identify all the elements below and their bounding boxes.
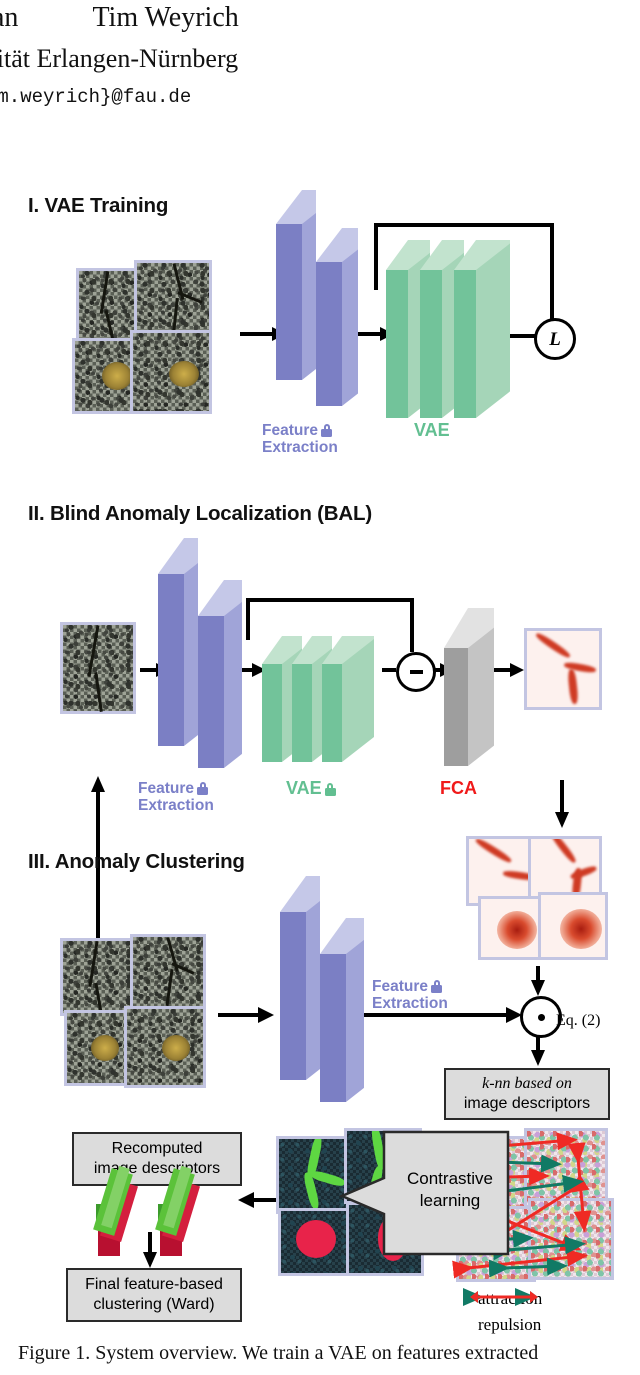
descriptor-bars — [92, 1178, 232, 1268]
clustering-feature-extraction-block — [276, 876, 370, 1102]
clustering-feature-label-line1: Feature — [372, 978, 428, 995]
final-box-line1: Final feature-based — [85, 1276, 223, 1293]
recomputed-box-line1: Recomputed — [112, 1140, 203, 1157]
contrastive-learning-arrow: Contrastive learning — [338, 1126, 508, 1276]
knn-box: k-nn based on image descriptors — [444, 1068, 610, 1120]
contrastive-arrow-line1: Contrastive — [407, 1169, 493, 1188]
knn-box-line2: image descriptors — [464, 1095, 590, 1112]
lock-icon — [431, 980, 442, 993]
final-box-line2: clustering (Ward) — [93, 1296, 214, 1313]
legend: attraction repulsion — [470, 1288, 640, 1336]
legend-label-repulsion: repulsion — [478, 1315, 541, 1335]
figure-caption: Figure 1. System overview. We train a VA… — [18, 1342, 638, 1365]
repulsion-arrow-icon — [470, 1288, 538, 1306]
knn-box-line1: k-nn based on — [482, 1075, 572, 1092]
contrastive-arrow-line2: learning — [420, 1191, 481, 1210]
clustering-feature-label-line2: Extraction — [372, 995, 448, 1012]
eq2-label: Eq. (2) — [556, 1012, 600, 1030]
clustering-feature-extraction-label: Feature Extraction — [372, 978, 448, 1012]
product-dot-glyph — [538, 1014, 545, 1021]
final-clustering-box: Final feature-based clustering (Ward) — [66, 1268, 242, 1322]
